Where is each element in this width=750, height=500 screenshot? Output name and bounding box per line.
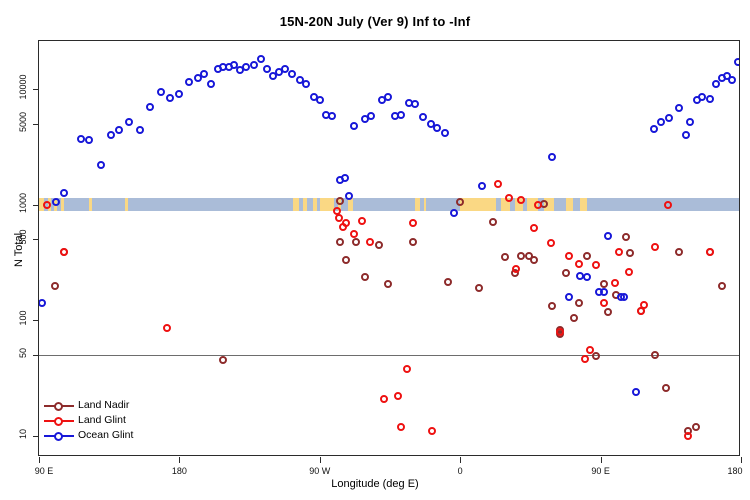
data-point [604,232,612,240]
data-point [698,93,706,101]
map-land-segment [293,198,298,211]
data-point [367,112,375,120]
data-point [600,280,608,288]
y-axis-tick [33,124,39,125]
legend-symbol-circle [54,432,63,441]
page-title: 15N-20N July (Ver 9) Inf to -Inf [0,14,750,29]
data-point [428,427,436,435]
data-point [380,395,388,403]
data-point [77,135,85,143]
legend-marker [44,413,74,428]
data-point [166,94,174,102]
data-point [650,125,658,133]
data-point [562,269,570,277]
y-axis-tick [33,239,39,240]
data-point [419,113,427,121]
legend: Land NadirLand GlintOcean Glint [44,398,133,443]
data-point [397,111,405,119]
data-point [625,268,633,276]
data-point [384,93,392,101]
x-axis-tick-label: 90 E [35,466,54,476]
legend-label: Land Glint [78,413,126,428]
data-point [581,355,589,363]
data-point [350,122,358,130]
data-point [706,95,714,103]
x-axis-tick [39,457,40,463]
data-point [336,238,344,246]
data-point [335,214,343,222]
map-land-segment [89,198,92,211]
data-point [366,238,374,246]
data-point [512,265,520,273]
data-point [375,241,383,249]
data-point [384,280,392,288]
reference-line-50 [39,355,739,356]
data-point [665,114,673,122]
data-point [583,252,591,260]
data-point [342,219,350,227]
map-land-segment [566,198,572,211]
data-point [43,201,51,209]
data-point [565,252,573,260]
data-point [97,161,105,169]
data-point [604,308,612,316]
data-point [288,70,296,78]
data-point [394,392,402,400]
legend-item: Land Nadir [44,398,133,413]
data-point [600,288,608,296]
map-land-segment [415,198,420,211]
data-point [185,78,193,86]
map-land-segment [424,198,426,211]
data-point [219,356,227,364]
data-point [157,88,165,96]
data-point [441,129,449,137]
data-point [622,233,630,241]
data-point [350,230,358,238]
data-point [115,126,123,134]
data-point [626,249,634,257]
legend-marker [44,428,74,443]
legend-marker [44,398,74,413]
data-point [242,63,250,71]
data-point [517,196,525,204]
map-land-segment [320,198,334,211]
data-point [600,299,608,307]
data-point [570,314,578,322]
legend-symbol-circle [54,417,63,426]
data-point [411,100,419,108]
legend-item: Ocean Glint [44,428,133,443]
data-point [640,301,648,309]
data-point [39,299,46,307]
x-axis-title: Longitude (deg E) [0,478,750,490]
x-axis-tick [741,457,742,463]
data-point [530,256,538,264]
data-point [734,58,739,66]
y-axis-tick [33,320,39,321]
data-point [651,351,659,359]
data-point [250,61,258,69]
map-land-segment [580,198,586,211]
data-point [664,201,672,209]
data-point [352,238,360,246]
map-ocean-band [39,198,739,211]
chart-page: 15N-20N July (Ver 9) Inf to -Inf N Total… [0,0,750,500]
map-land-segment [303,198,307,211]
map-land-segment [460,198,496,211]
x-axis-tick [601,457,602,463]
data-point [592,352,600,360]
x-axis-tick-label: 90 E [591,466,610,476]
map-land-segment [313,198,318,211]
legend-label: Land Nadir [78,398,129,413]
y-axis-tick [33,436,39,437]
data-point [534,201,542,209]
data-point [60,189,68,197]
map-land-segment [125,198,128,211]
data-point [358,217,366,225]
data-point [632,388,640,396]
plot-inner [39,41,739,455]
x-axis-tick-label: 180 [172,466,187,476]
data-point [450,209,458,217]
data-point [51,282,59,290]
data-point [565,293,573,301]
x-axis-tick [320,457,321,463]
data-point [200,70,208,78]
data-point [341,174,349,182]
map-land-segment [61,198,64,211]
x-axis-tick [179,457,180,463]
data-point [615,248,623,256]
y-axis-tick [33,89,39,90]
data-point [146,103,154,111]
legend-label: Ocean Glint [78,428,133,443]
data-point [263,65,271,73]
legend-symbol-circle [54,402,63,411]
plot-area: 90 E18090 W090 E180 [38,40,740,456]
data-point [675,104,683,112]
data-point [651,243,659,251]
data-point [575,299,583,307]
data-point [505,194,513,202]
data-point [611,279,619,287]
data-point [403,365,411,373]
data-point [475,284,483,292]
data-point [682,131,690,139]
data-point [302,80,310,88]
data-point [684,432,692,440]
legend-item: Land Glint [44,413,133,428]
data-point [107,131,115,139]
data-point [336,197,344,205]
data-point [409,238,417,246]
data-point [342,256,350,264]
data-point [163,324,171,332]
data-point [728,76,736,84]
data-point [444,278,452,286]
data-point [706,248,714,256]
data-point [718,282,726,290]
data-point [501,253,509,261]
x-axis-tick-label: 90 W [309,466,330,476]
data-point [548,153,556,161]
data-point [686,118,694,126]
data-point [675,248,683,256]
y-axis-tick [33,205,39,206]
y-axis-tick [33,355,39,356]
data-point [207,80,215,88]
data-point [547,239,555,247]
data-point [620,293,628,301]
data-point [692,423,700,431]
data-point [712,80,720,88]
data-point [125,118,133,126]
data-point [60,248,68,256]
data-point [345,192,353,200]
data-point [662,384,670,392]
data-point [548,302,556,310]
data-point [657,118,665,126]
data-point [175,90,183,98]
data-point [592,261,600,269]
map-land-segment [348,198,353,211]
x-axis-tick [460,457,461,463]
data-point [397,423,405,431]
data-point [361,273,369,281]
x-axis-tick-label: 180 [727,466,742,476]
x-axis-tick-label: 0 [458,466,463,476]
data-point [433,124,441,132]
data-point [583,273,591,281]
data-point [517,252,525,260]
data-point [409,219,417,227]
data-point [328,112,336,120]
data-point [530,224,538,232]
data-point [575,260,583,268]
data-point [316,96,324,104]
data-point [489,218,497,226]
data-point [494,180,502,188]
data-point [136,126,144,134]
data-point [85,136,93,144]
data-point [257,55,265,63]
data-point [478,182,486,190]
